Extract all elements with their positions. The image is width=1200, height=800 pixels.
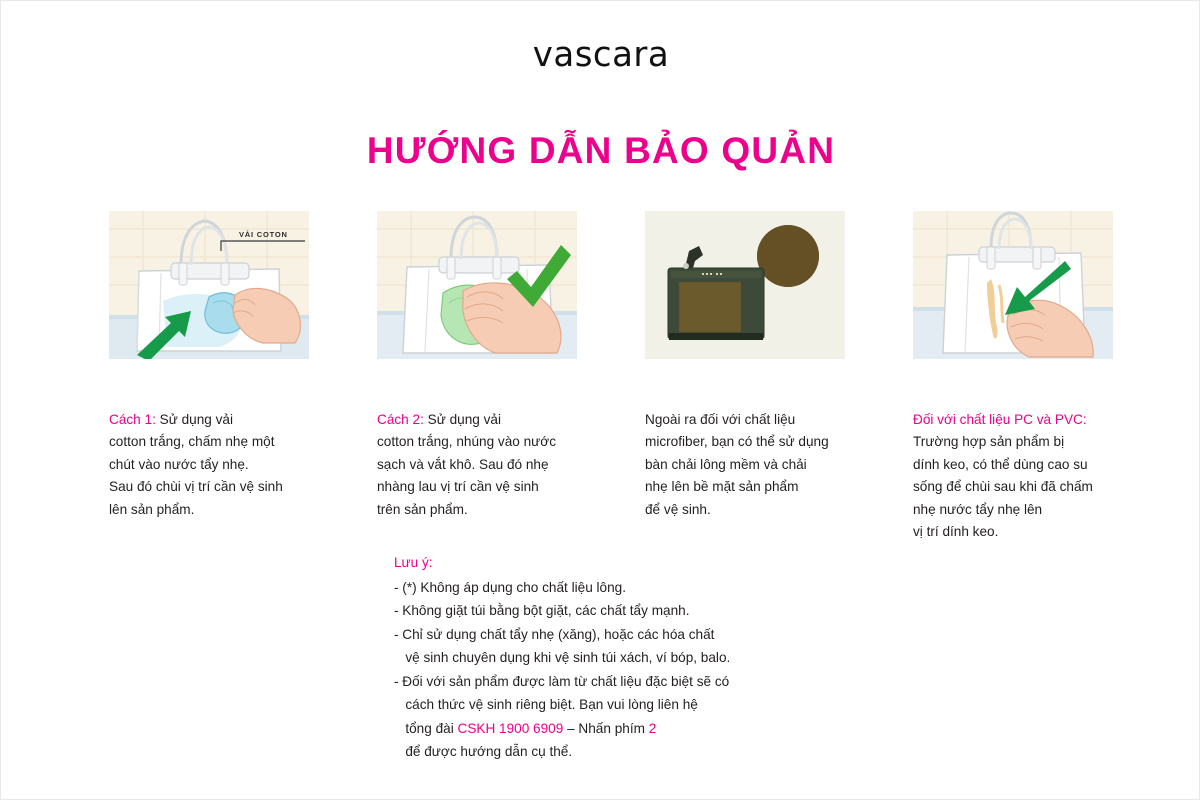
note-item: cách thức vệ sinh riêng biệt. Bạn vui lò…	[394, 693, 864, 717]
instruction-column-2: Cách 2: Sử dụng vải cotton trắng, nhúng …	[377, 211, 577, 544]
instruction-body-4: Trường hợp sản phẩm bị dính keo, có thể …	[913, 434, 1093, 539]
instruction-body-1: Sử dụng vải cotton trắng, chấm nhẹ một c…	[109, 412, 283, 517]
notes-section: Lưu ý: - (*) Không áp dụng cho chất liệu…	[394, 551, 864, 764]
instruction-accent-2: Cách 2:	[377, 412, 424, 427]
instruction-caption-4: Đối với chất liệu PC và PVC: Trường hợp …	[913, 386, 1113, 544]
bag-wipe-damp-cloth-checkmark-illustration	[377, 211, 577, 359]
hotline-key: 2	[649, 721, 657, 736]
brand-logo: vascara	[1, 35, 1200, 75]
note-closing: để được hướng dẫn cụ thể.	[394, 740, 864, 764]
note-item: - Chỉ sử dụng chất tẩy nhẹ (xăng), hoặc …	[394, 623, 864, 647]
instruction-column-4: Đối với chất liệu PC và PVC: Trường hợp …	[913, 211, 1113, 544]
instruction-accent-4: Đối với chất liệu PC và PVC:	[913, 412, 1087, 427]
care-instructions-page: vascara HƯỚNG DẪN BẢO QUẢN	[0, 0, 1200, 800]
instruction-columns: VẢI COTON Cách 1: Sử dụng vải cotton trắ…	[109, 211, 1101, 544]
note-item: vệ sinh chuyên dụng khi vệ sinh túi xách…	[394, 646, 864, 670]
svg-text:VẢI COTON: VẢI COTON	[239, 230, 288, 239]
instruction-body-2: Sử dụng vải cotton trắng, nhúng vào nước…	[377, 412, 556, 517]
note-item: - (*) Không áp dụng cho chất liệu lông.	[394, 576, 864, 600]
brand-logo-text: vascara	[533, 35, 670, 76]
bag-glue-stain-eraser-illustration	[913, 211, 1113, 359]
instruction-caption-3: Ngoài ra đối với chất liệu microfiber, b…	[645, 386, 845, 521]
notes-title: Lưu ý:	[394, 551, 864, 575]
bag-wipe-cotton-cloth-illustration: VẢI COTON	[109, 211, 309, 359]
note-hotline-mid: – Nhấn phím	[563, 721, 648, 736]
instruction-caption-2: Cách 2: Sử dụng vải cotton trắng, nhúng …	[377, 386, 577, 521]
note-hotline-line: tổng đài CSKH 1900 6909 – Nhấn phím 2	[394, 717, 864, 741]
instruction-body-3: Ngoài ra đối với chất liệu microfiber, b…	[645, 412, 829, 517]
note-hotline-prefix: tổng đài	[394, 721, 458, 736]
instruction-accent-1: Cách 1:	[109, 412, 156, 427]
note-item: - Đối với sản phẩm được làm từ chất liệu…	[394, 670, 864, 694]
instruction-column-3: Ngoài ra đối với chất liệu microfiber, b…	[645, 211, 845, 544]
note-item: - Không giặt túi bằng bột giặt, các chất…	[394, 599, 864, 623]
hotline-number[interactable]: CSKH 1900 6909	[458, 721, 564, 736]
instruction-caption-1: Cách 1: Sử dụng vải cotton trắng, chấm n…	[109, 386, 309, 521]
instruction-column-1: VẢI COTON Cách 1: Sử dụng vải cotton trắ…	[109, 211, 309, 544]
microfiber-wallet-photo	[645, 211, 845, 359]
page-title: HƯỚNG DẪN BẢO QUẢN	[1, 130, 1200, 172]
